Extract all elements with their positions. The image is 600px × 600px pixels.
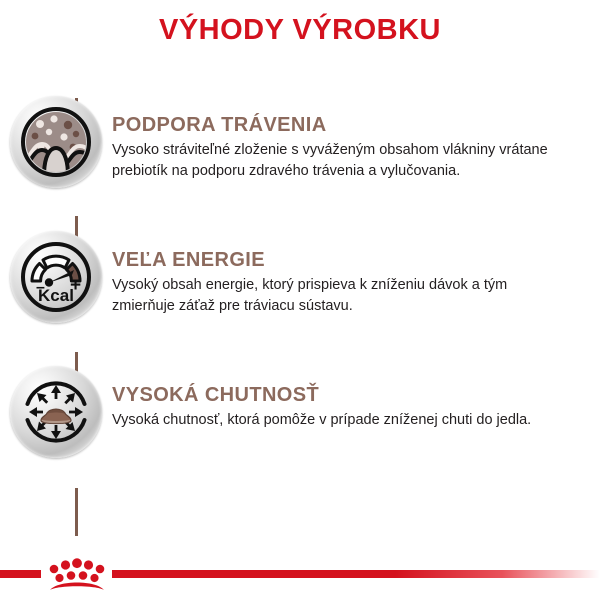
palatability-bowl-icon — [10, 366, 102, 458]
benefits-list: PODPORA TRÁVENIA Vysoko stráviteľné zlož… — [0, 96, 600, 501]
benefit-body: Vysoký obsah energie, ktorý prispieva k … — [112, 275, 572, 316]
benefit-item-digestion: PODPORA TRÁVENIA Vysoko stráviteľné zlož… — [0, 96, 600, 211]
benefit-heading: VYSOKÁ CHUTNOSŤ — [112, 384, 572, 406]
benefit-text-block: PODPORA TRÁVENIA Vysoko stráviteľné zlož… — [112, 96, 600, 181]
kcal-gauge-icon: – + Kcal — [10, 231, 102, 323]
benefit-item-energy: – + Kcal VEĽA ENERGIE Vysoký obsah energ… — [0, 231, 600, 346]
benefit-icon-wrap — [0, 96, 112, 188]
benefit-heading: VEĽA ENERGIE — [112, 249, 572, 271]
footer-brand-bar — [0, 540, 600, 600]
benefit-body: Vysoko stráviteľné zloženie s vyváženým … — [112, 140, 572, 181]
svg-text:Kcal: Kcal — [38, 286, 74, 305]
benefit-heading: PODPORA TRÁVENIA — [112, 114, 572, 136]
digestion-icon — [10, 96, 102, 188]
product-benefits-page: VÝHODY VÝROBKU — [0, 0, 600, 600]
benefit-body: Vysoká chutnosť, ktorá pomôže v prípade … — [112, 410, 572, 431]
benefit-text-block: VYSOKÁ CHUTNOSŤ Vysoká chutnosť, ktorá p… — [112, 366, 600, 431]
brand-rule-left — [0, 570, 41, 578]
benefit-item-palatability: VYSOKÁ CHUTNOSŤ Vysoká chutnosť, ktorá p… — [0, 366, 600, 481]
benefit-text-block: VEĽA ENERGIE Vysoký obsah energie, ktorý… — [112, 231, 600, 316]
brand-rule-right — [112, 570, 600, 578]
royal-canin-crown-icon — [44, 556, 110, 592]
page-title: VÝHODY VÝROBKU — [0, 14, 600, 47]
benefit-icon-wrap — [0, 366, 112, 458]
benefit-icon-wrap: – + Kcal — [0, 231, 112, 323]
